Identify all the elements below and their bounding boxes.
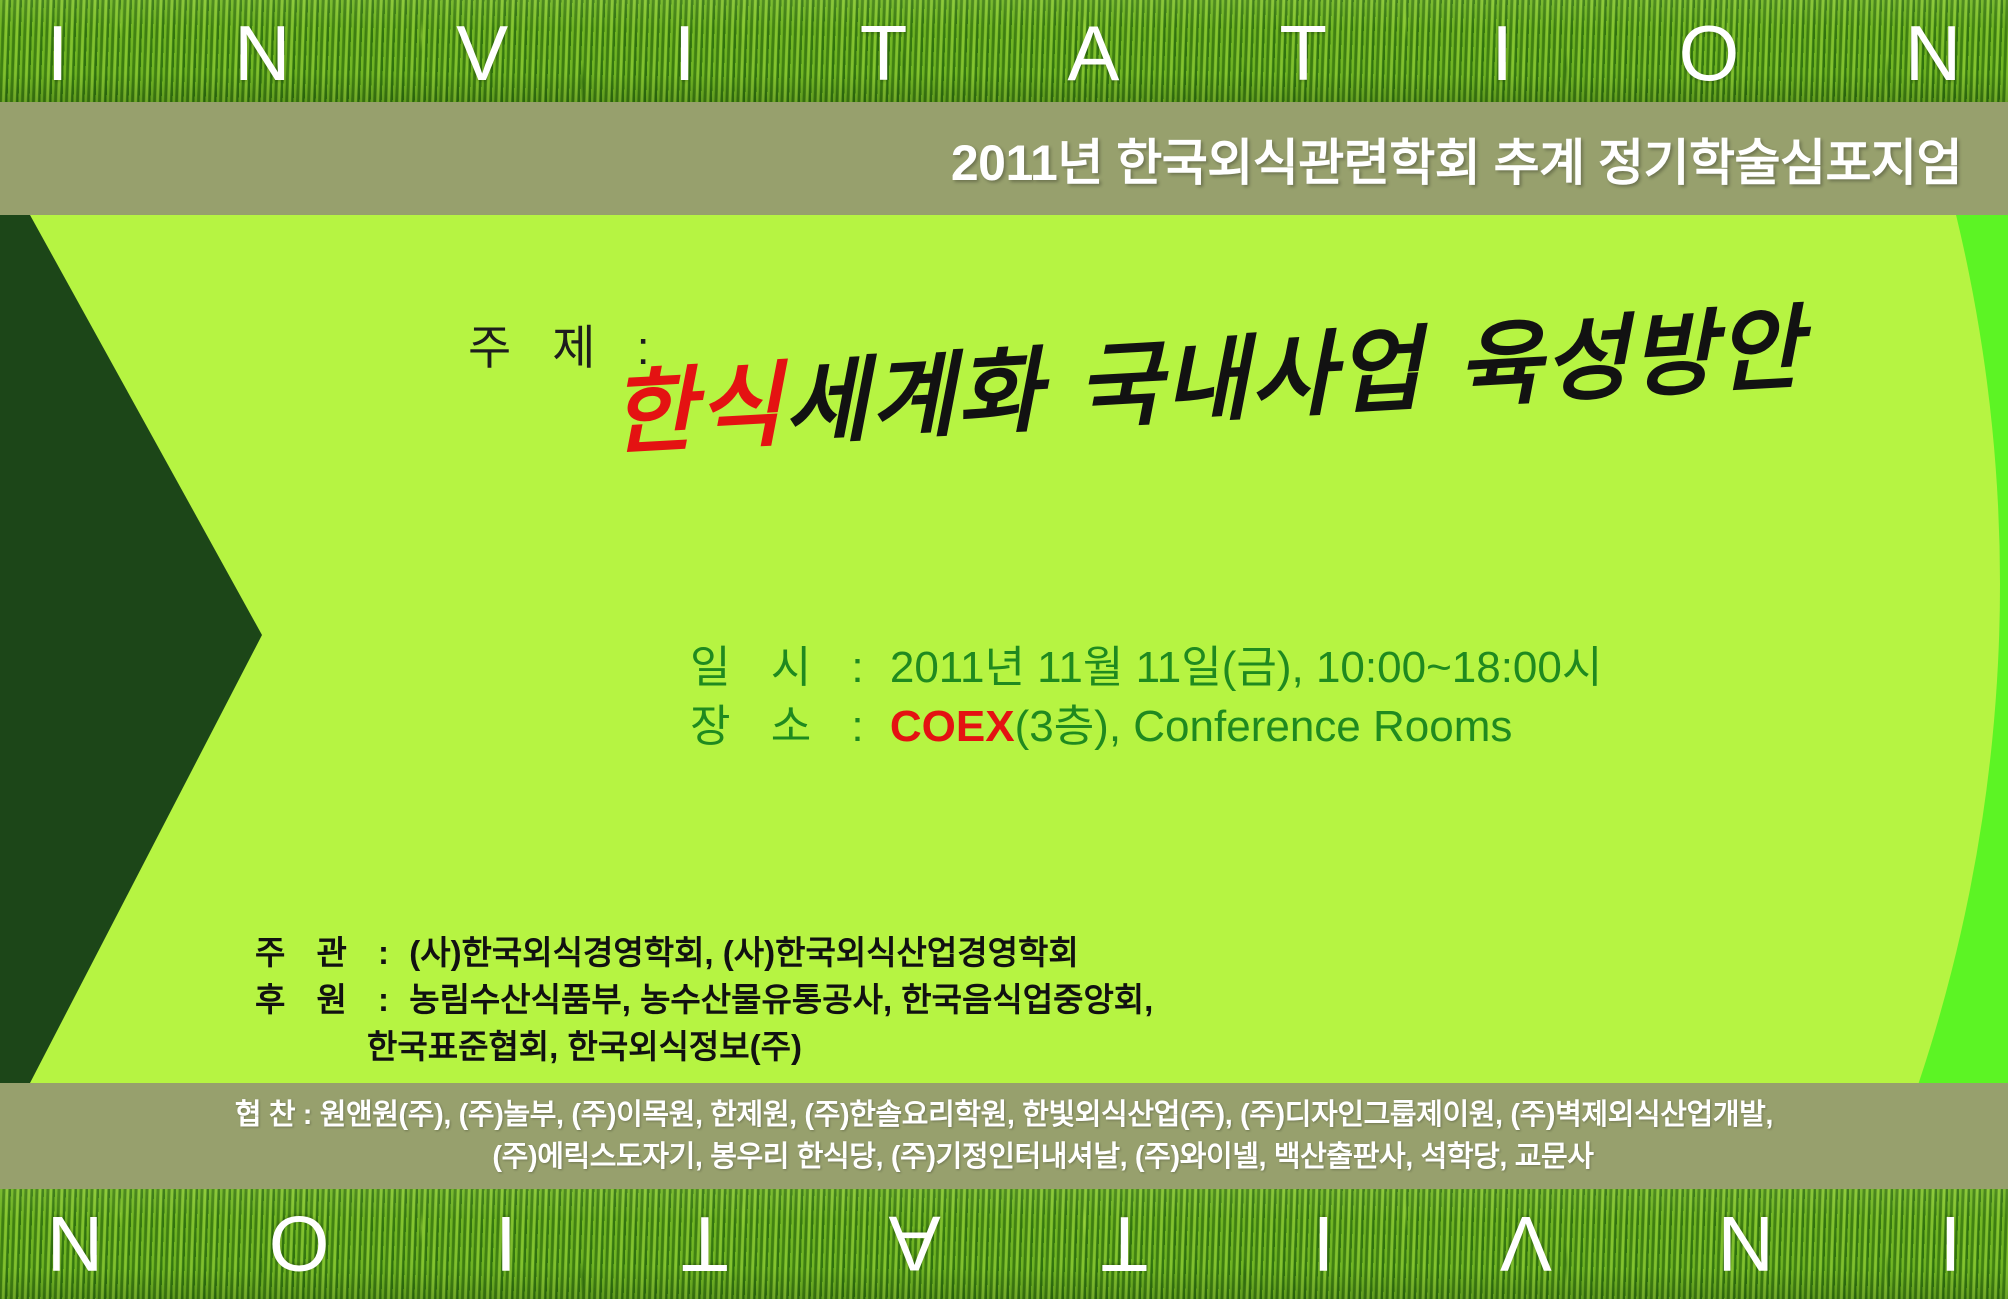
supporters-line-1: 협 찬 : 원앤원(주), (주)놀부, (주)이목원, 한제원, (주)한솔요… [235, 1094, 1773, 1136]
sponsor-row-continued: 한국표준협회, 한국외식정보(주) [255, 1024, 1153, 1071]
invitation-word-top: I N V I T A T I O N [0, 10, 2008, 96]
event-venue-rest: (3층), Conference Rooms [1015, 702, 1513, 751]
supporters-line-2: (주)에릭스도자기, 봉우리 한식당, (주)기정인터내셔날, (주)와이넬, … [414, 1136, 1593, 1178]
organizer-value: (사)한국외식경영학회, (사)한국외식산업경영학회 [400, 934, 1079, 971]
subject-accent-text: 한식 [607, 350, 786, 468]
hosts-and-sponsors: 주 관 : (사)한국외식경영학회, (사)한국외식산업경영학회 후 원 : 농… [255, 930, 1153, 1071]
event-info: 일 시 : 2011년 11월 11일(금), 10:00~18:00시 장 소… [690, 638, 1602, 757]
organizer-label: 주 관 : [255, 934, 400, 971]
event-venue-label: 장 소 : [690, 702, 878, 751]
sponsor-value-line1: 농림수산식품부, 농수산물유통공사, 한국음식업중앙회, [400, 981, 1153, 1018]
event-venue-accent: COEX [890, 702, 1015, 751]
supporters-list: 협 찬 : 원앤원(주), (주)놀부, (주)이목원, 한제원, (주)한솔요… [0, 1083, 2008, 1189]
event-date-row: 일 시 : 2011년 11월 11일(금), 10:00~18:00시 [690, 638, 1602, 697]
organizer-row: 주 관 : (사)한국외식경영학회, (사)한국외식산업경영학회 [255, 930, 1153, 977]
sponsor-label: 후 원 : [255, 981, 400, 1018]
event-date-value: 2011년 11월 11일(금), 10:00~18:00시 [878, 643, 1603, 692]
invitation-poster: I N V I T A T I O N 2011년 한국외식관련학회 추계 정기… [0, 0, 2008, 1299]
event-date-label: 일 시 : [690, 643, 878, 692]
sponsor-value-line2: 한국표준협회, 한국외식정보(주) [367, 1028, 802, 1065]
page-title: 2011년 한국외식관련학회 추계 정기학술심포지엄 [0, 102, 1962, 215]
invitation-word-bottom: I N V I T A T I O N [0, 1201, 2008, 1287]
sponsor-row: 후 원 : 농림수산식품부, 농수산물유통공사, 한국음식업중앙회, [255, 977, 1153, 1024]
event-venue-row: 장 소 : COEX(3층), Conference Rooms [690, 697, 1602, 756]
